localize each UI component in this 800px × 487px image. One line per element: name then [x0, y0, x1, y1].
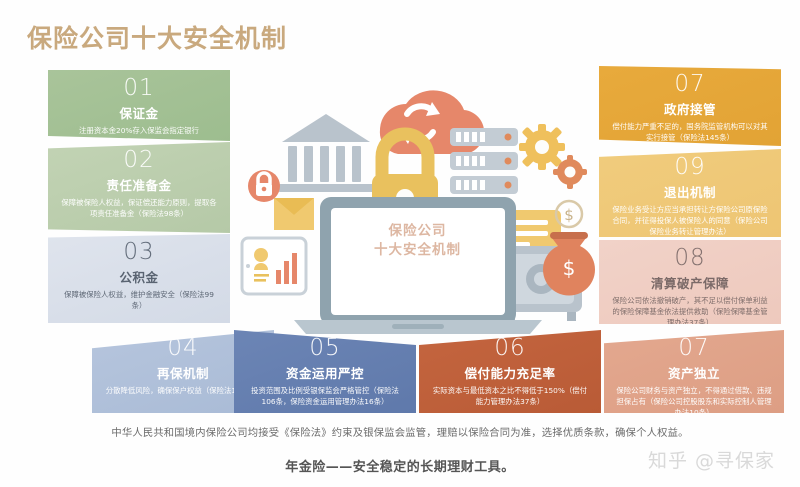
- bank-building-icon: [278, 114, 374, 192]
- card-name: 政府接管: [607, 99, 773, 118]
- card-desc: 保险公司依法撤销破产，其不足以偿付保单利益的保险保障基金依法提供救助（保险保障基…: [607, 296, 773, 324]
- card-desc: 偿付能力严重不足的，国务院监管机构可以对其实行接管（保险法145条）: [607, 122, 773, 143]
- card-number: 08: [607, 246, 773, 270]
- watermark: 知乎 @寻保家: [648, 446, 775, 473]
- card-number: 03: [56, 240, 222, 264]
- card-desc: 保险公司财务与资产独立，不得通过借款、违规担保占有（保险公司控股股东和实际控制人…: [612, 386, 776, 413]
- card-number: 02: [56, 148, 222, 172]
- card-desc: 实际资本与最低资本之比不得低于150%（偿付能力管理办法37条）: [427, 386, 593, 407]
- card-desc: 保障被保险人权益，保证偿还能力原则，提取各项责任准备金（保险法98条）: [56, 198, 222, 219]
- card-number: 05: [242, 336, 408, 360]
- card-name: 责任准备金: [56, 175, 222, 194]
- card-01: 01 保证金 注册资本金20%存入保监会指定银行: [48, 70, 230, 141]
- card-number: 07: [612, 336, 776, 360]
- card-number: 06: [427, 336, 593, 360]
- card-name: 资金运用严控: [242, 363, 408, 382]
- central-illustration: $ $: [232, 62, 602, 334]
- card-06: 06 偿付能力充足率 实际资本与最低资本之比不得低于150%（偿付能力管理办法3…: [419, 330, 601, 413]
- card-name: 保证金: [56, 103, 222, 122]
- card-desc: 注册资本金20%存入保监会指定银行: [56, 126, 222, 137]
- laptop-icon: [294, 197, 542, 334]
- card-05: 05 资金运用严控 投资范围及比例受银保监会严格管控（保险法106条，保险资金运…: [234, 330, 416, 413]
- card-name: 退出机制: [607, 182, 773, 201]
- card-09: 09 退出机制 保险业务受让方应当承担转让方保险公司原保险合同，并征得投保人被保…: [599, 149, 781, 237]
- card-number: 09: [607, 155, 773, 179]
- card-name: 清算破产保障: [607, 273, 773, 292]
- tablet-chart-icon: [242, 238, 306, 294]
- svg-text:$: $: [563, 256, 576, 280]
- footer-note: 中华人民共和国境内保险公司均接受《保险法》约束及银保监会监管，理赔以保险合同为准…: [0, 424, 800, 439]
- card-08: 08 清算破产保障 保险公司依法撤销破产，其不足以偿付保单利益的保险保障基金依法…: [599, 240, 781, 324]
- card-number: 07: [607, 72, 773, 96]
- svg-text:$: $: [564, 206, 574, 224]
- card-name: 公积金: [56, 267, 222, 286]
- card-desc: 投资范围及比例受银保监会严格管控（保险法106条，保险资金运用管理办法16条）: [242, 386, 408, 407]
- card-07-government: 07 政府接管 偿付能力严重不足的，国务院监管机构可以对其实行接管（保险法145…: [599, 66, 781, 146]
- laptop-line-1: 保险公司: [340, 222, 495, 241]
- card-number: 01: [56, 76, 222, 100]
- laptop-screen-text: 保险公司 十大安全机制: [340, 222, 495, 259]
- server-rack-icon: [450, 128, 518, 194]
- infographic-page: 保险公司十大安全机制 01 保证金 注册资本金20%存入保监会指定银行 02 责…: [0, 0, 800, 487]
- card-desc: 保险业务受让方应当承担转让方保险公司原保险合同，并征得投保人被保险人的同意（保险…: [607, 205, 773, 237]
- card-02: 02 责任准备金 保障被保险人权益，保证偿还能力原则，提取各项责任准备金（保险法…: [48, 142, 230, 233]
- laptop-line-2: 十大安全机制: [340, 241, 495, 260]
- card-desc: 保障被保险人权益，维护金融安全（保险法99条）: [56, 290, 222, 311]
- gear-icon: [519, 124, 587, 189]
- page-title: 保险公司十大安全机制: [27, 19, 287, 55]
- card-03: 03 公积金 保障被保险人权益，维护金融安全（保险法99条）: [48, 234, 230, 323]
- card-07-assets: 07 资产独立 保险公司财务与资产独立，不得通过借款、违规担保占有（保险公司控股…: [604, 330, 784, 413]
- card-name: 偿付能力充足率: [427, 363, 593, 382]
- card-name: 资产独立: [612, 363, 776, 382]
